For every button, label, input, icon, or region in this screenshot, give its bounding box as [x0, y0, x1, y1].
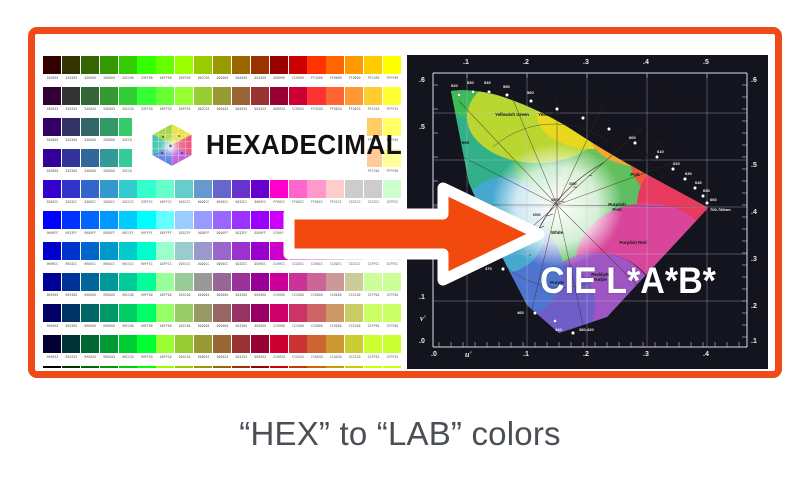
- color-swatch-hex-label: 3333CC: [62, 198, 81, 206]
- color-swatch-hex-label: 99CC00: [194, 74, 213, 82]
- color-swatch: [345, 56, 363, 74]
- color-swatch-item: 00CC66: [119, 304, 138, 334]
- color-swatch-item: 9999FF: [194, 211, 213, 241]
- swatch-row: 00000000330000660000990000CC0000FF0099FF…: [43, 366, 403, 368]
- color-swatch: [43, 149, 61, 167]
- color-swatch: [156, 273, 174, 291]
- color-swatch: [270, 304, 288, 322]
- color-swatch-item: 006633: [81, 335, 100, 365]
- color-swatch-item: 3399CC: [100, 180, 119, 210]
- color-swatch: [81, 242, 99, 260]
- color-swatch-hex-label: CC6699: [307, 291, 326, 299]
- color-swatch: [364, 56, 382, 74]
- color-swatch: [62, 211, 80, 229]
- color-swatch-hex-label: 0033FF: [62, 229, 81, 237]
- color-swatch-hex-label: 00FFCC: [137, 260, 156, 268]
- color-swatch: [100, 366, 118, 368]
- color-swatch-item: 333333: [62, 87, 81, 117]
- color-swatch: [194, 87, 212, 105]
- cie-ytick-left-5: .5: [419, 124, 425, 131]
- color-swatch: [251, 180, 269, 198]
- color-swatch-item: 999966: [194, 304, 213, 334]
- color-swatch-item: 00FF33: [137, 335, 156, 365]
- color-swatch-hex-label: 00CC99: [119, 291, 138, 299]
- cie-xtick-4: .4: [703, 351, 709, 358]
- color-swatch: [62, 273, 80, 291]
- cie-wavelength-640: 640: [695, 180, 702, 185]
- color-swatch-item: 009900: [100, 366, 119, 368]
- color-swatch: [326, 335, 344, 353]
- color-swatch-hex-label: CC0066: [270, 322, 289, 330]
- content-frame: 33000033330033660033990033CC0033FF0066FF…: [28, 27, 782, 378]
- color-swatch-hex-label: 00FF33: [137, 353, 156, 361]
- color-swatch-hex-label: 99FFCC: [156, 260, 175, 268]
- color-swatch-item: 0099CC: [100, 242, 119, 272]
- color-swatch: [119, 335, 137, 353]
- color-swatch-hex-label: 6666CC: [213, 198, 232, 206]
- color-swatch: [156, 366, 174, 368]
- color-swatch: [270, 366, 288, 368]
- color-swatch-item: 009999: [100, 273, 119, 303]
- color-swatch-item: 66FF00: [156, 56, 175, 86]
- color-swatch-hex-label: 009933: [100, 353, 119, 361]
- color-swatch: [289, 56, 307, 74]
- color-swatch: [100, 211, 118, 229]
- color-swatch: [137, 242, 155, 260]
- color-swatch: [156, 304, 174, 322]
- color-swatch: [100, 335, 118, 353]
- color-swatch-hex-label: 9933CC: [232, 260, 251, 268]
- color-swatch-item: 3300CC: [43, 180, 62, 210]
- color-swatch-hex-label: 339900: [100, 74, 119, 82]
- color-swatch-item: 330066: [43, 118, 62, 148]
- color-swatch-hex-label: CC9933: [326, 353, 345, 361]
- color-swatch: [213, 87, 231, 105]
- cie-xtick-top-4: .4: [643, 59, 649, 66]
- color-swatch-item: CCCC66: [345, 304, 364, 334]
- color-swatch-item: CC6666: [307, 304, 326, 334]
- color-swatch-item: 66CCCC: [175, 180, 194, 210]
- color-swatch-item: 99CC00: [194, 56, 213, 86]
- color-swatch: [81, 304, 99, 322]
- color-swatch-item: 9999CC: [194, 242, 213, 272]
- color-swatch-hex-label: FFFF00: [383, 74, 402, 82]
- color-swatch-item: 330033: [43, 87, 62, 117]
- color-swatch-item: 339933: [100, 87, 119, 117]
- color-swatch: [270, 335, 288, 353]
- color-swatch: [81, 335, 99, 353]
- color-swatch-hex-label: 006633: [81, 353, 100, 361]
- color-swatch-item: 996600: [232, 56, 251, 86]
- color-swatch-item: 339966: [100, 118, 119, 148]
- cie-ytick-right-5: .5: [751, 162, 757, 169]
- color-swatch-hex-label: 00CCCC: [119, 260, 138, 268]
- color-swatch-hex-label: 330099: [43, 167, 62, 175]
- color-swatch: [345, 366, 363, 368]
- color-swatch-item: 993333: [232, 335, 251, 365]
- color-swatch: [232, 211, 250, 229]
- cie-wavelength-590: 590: [653, 117, 660, 122]
- color-swatch-hex-label: 0099CC: [100, 260, 119, 268]
- color-swatch-item: 66FFCC: [156, 180, 175, 210]
- color-swatch: [137, 211, 155, 229]
- color-swatch-item: 9900FF: [251, 211, 270, 241]
- color-swatch-hex-label: CC6666: [307, 322, 326, 330]
- color-swatch: [62, 335, 80, 353]
- color-swatch-hex-label: 990033: [251, 353, 270, 361]
- color-swatch-hex-label: 99FF66: [156, 322, 175, 330]
- color-swatch-item: FFFF00: [383, 56, 402, 86]
- color-swatch-item: 00CCFF: [119, 211, 138, 241]
- cie-wavelength-540: 540: [484, 80, 491, 85]
- color-swatch: [326, 56, 344, 74]
- color-swatch-item: 006699: [81, 273, 100, 303]
- color-swatch-hex-label: 99CCCC: [175, 260, 194, 268]
- color-swatch: [326, 87, 344, 105]
- hexagon-color-wheel-icon: [149, 122, 195, 168]
- color-swatch: [364, 87, 382, 105]
- color-swatch-item: 0066FF: [81, 211, 100, 241]
- color-swatch-hex-label: 66FFFF: [156, 229, 175, 237]
- cie-ytick-right-4: .4: [751, 209, 757, 216]
- color-swatch-item: 333366: [62, 118, 81, 148]
- color-swatch: [43, 180, 61, 198]
- color-swatch: [62, 304, 80, 322]
- cie-wavelength-530: 530: [467, 80, 474, 85]
- color-swatch-item: 99FF33: [156, 335, 175, 365]
- color-swatch-hex-label: 33FFCC: [137, 198, 156, 206]
- color-swatch-hex-label: CC6633: [307, 353, 326, 361]
- color-swatch: [194, 366, 212, 368]
- color-swatch-hex-label: 6633CC: [232, 198, 251, 206]
- color-swatch-hex-label: 996699: [213, 291, 232, 299]
- color-swatch: [213, 366, 231, 368]
- color-swatch: [289, 366, 307, 368]
- color-swatch: [345, 87, 363, 105]
- color-swatch-item: 99CCCC: [175, 242, 194, 272]
- color-swatch-item: 999999: [194, 273, 213, 303]
- cie-xtick-top-1: .1: [463, 59, 469, 66]
- color-swatch: [100, 304, 118, 322]
- color-swatch-item: 99CC99: [175, 273, 194, 303]
- color-swatch-hex-label: 000099: [43, 291, 62, 299]
- color-swatch-hex-label: 993300: [251, 74, 270, 82]
- color-swatch: [43, 273, 61, 291]
- color-swatch-hex-label: 993399: [232, 291, 251, 299]
- color-swatch-item: 33FF00: [137, 56, 156, 86]
- color-swatch-item: 00CC00: [119, 366, 138, 368]
- color-swatch: [213, 211, 231, 229]
- color-swatch: [194, 56, 212, 74]
- color-swatch: [62, 149, 80, 167]
- color-swatch: [175, 335, 193, 353]
- color-swatch: [251, 56, 269, 74]
- color-swatch-item: 009933: [100, 335, 119, 365]
- color-swatch: [251, 366, 269, 368]
- color-swatch-item: 0000CC: [43, 242, 62, 272]
- cie-wavelength-380-420: 380-420: [579, 327, 594, 332]
- color-swatch-hex-label: 9999CC: [194, 260, 213, 268]
- color-swatch: [383, 87, 401, 105]
- color-swatch: [383, 304, 401, 322]
- color-swatch: [383, 366, 401, 368]
- color-swatch-item: FF6600: [326, 56, 345, 86]
- color-swatch-hex-label: 336633: [81, 105, 100, 113]
- color-swatch: [175, 211, 193, 229]
- cie-ytick-left-6: .6: [419, 77, 425, 84]
- color-swatch-item: 99FF00: [175, 56, 194, 86]
- color-swatch: [43, 242, 61, 260]
- color-swatch-hex-label: 330033: [43, 105, 62, 113]
- cie-wavelength-610: 610: [657, 149, 664, 154]
- color-swatch-item: CC3333: [289, 335, 308, 365]
- color-swatch-item: 330099: [43, 149, 62, 179]
- color-swatch-hex-label: 9966CC: [213, 260, 232, 268]
- color-swatch: [251, 87, 269, 105]
- cie-xtick-top-3: .3: [583, 59, 589, 66]
- color-swatch: [81, 87, 99, 105]
- color-swatch-item: CCFF00: [383, 366, 402, 368]
- color-swatch: [232, 335, 250, 353]
- color-swatch-item: 3366CC: [81, 180, 100, 210]
- color-swatch-hex-label: 0000FF: [43, 229, 62, 237]
- color-swatch-hex-label: 00FFFF: [137, 229, 156, 237]
- color-swatch-hex-label: 996600: [232, 74, 251, 82]
- color-swatch-hex-label: 9966FF: [213, 229, 232, 237]
- color-swatch-hex-label: 99FF99: [156, 291, 175, 299]
- color-swatch-item: 993366: [232, 304, 251, 334]
- cie-wavelength-460: 460: [517, 310, 524, 315]
- cie-wavelength-560: 560: [527, 90, 534, 95]
- color-swatch-hex-label: CC3399: [289, 291, 308, 299]
- color-swatch: [137, 273, 155, 291]
- color-swatch-item: 006666: [81, 304, 100, 334]
- color-swatch-hex-label: 0000CC: [43, 260, 62, 268]
- color-swatch: [213, 273, 231, 291]
- color-swatch-hex-label: 000033: [43, 353, 62, 361]
- color-swatch-item: CC6633: [307, 335, 326, 365]
- color-swatch-hex-label: FFFF99: [383, 167, 402, 175]
- color-swatch: [289, 87, 307, 105]
- color-swatch-item: 0033CC: [62, 242, 81, 272]
- color-swatch-hex-label: 00FF99: [137, 291, 156, 299]
- color-swatch-hex-label: 333366: [62, 136, 81, 144]
- color-swatch-item: 996600: [213, 366, 232, 368]
- cie-lab-title: CIE L*A*B*: [540, 260, 716, 302]
- color-swatch-item: 00FFFF: [137, 211, 156, 241]
- color-swatch: [43, 56, 61, 74]
- color-swatch: [156, 211, 174, 229]
- color-swatch-item: 99FF99: [156, 273, 175, 303]
- color-swatch-item: CC0033: [270, 335, 289, 365]
- color-swatch: [81, 118, 99, 136]
- color-swatch-item: CC0066: [270, 304, 289, 334]
- color-swatch-item: CC9900: [326, 366, 345, 368]
- hexadecimal-label-text: HEXADECIMAL: [206, 129, 402, 161]
- color-swatch: [156, 87, 174, 105]
- color-swatch-hex-label: 0066FF: [81, 229, 100, 237]
- color-swatch-item: 9900CC: [251, 242, 270, 272]
- color-swatch-hex-label: CCCC66: [345, 322, 364, 330]
- color-swatch-hex-label: 009999: [100, 291, 119, 299]
- cie-xtick-0: .0: [431, 351, 437, 358]
- cie-wavelength-620: 620: [673, 161, 680, 166]
- color-swatch: [81, 366, 99, 368]
- color-swatch-item: 006600: [81, 366, 100, 368]
- color-swatch: [232, 242, 250, 260]
- color-swatch-item: FFCC00: [364, 56, 383, 86]
- color-swatch: [81, 180, 99, 198]
- color-swatch-hex-label: 3399CC: [100, 198, 119, 206]
- color-swatch: [119, 304, 137, 322]
- color-swatch-hex-label: 66CCCC: [175, 198, 194, 206]
- color-swatch: [119, 180, 137, 198]
- color-swatch: [119, 87, 137, 105]
- cie-cct-4000: 4000: [551, 198, 559, 202]
- color-swatch: [43, 211, 61, 229]
- color-swatch-hex-label: 999900: [213, 74, 232, 82]
- color-swatch: [213, 335, 231, 353]
- color-swatch: [307, 335, 325, 353]
- color-swatch: [156, 242, 174, 260]
- color-swatch-item: 9966CC: [213, 242, 232, 272]
- color-swatch-item: 00FF66: [137, 304, 156, 334]
- color-swatch-item: FFFF33: [383, 87, 402, 117]
- color-swatch-item: CC9966: [326, 304, 345, 334]
- cie-cct-3000: 3000: [569, 182, 577, 186]
- color-swatch-hex-label: 3300CC: [43, 198, 62, 206]
- color-swatch-hex-label: CCFF66: [364, 322, 383, 330]
- color-swatch-hex-label: 999933: [194, 353, 213, 361]
- color-swatch-item: 33CC00: [119, 56, 138, 86]
- swatch-row: 00003300333300663300993300CC3300FF3399FF…: [43, 335, 403, 365]
- color-swatch-item: CC9933: [326, 335, 345, 365]
- color-swatch-hex-label: 9900FF: [251, 229, 270, 237]
- cie-wavelength-520: 520: [451, 83, 458, 88]
- color-swatch-hex-label: 003366: [62, 322, 81, 330]
- color-swatch-hex-label: 9999FF: [194, 229, 213, 237]
- color-swatch-hex-label: 996633: [213, 353, 232, 361]
- color-swatch-hex-label: FFCC33: [364, 105, 383, 113]
- color-swatch: [156, 180, 174, 198]
- cie-wavelength-580: 580: [603, 117, 610, 122]
- color-swatch-hex-label: CCFF99: [383, 291, 402, 299]
- color-swatch-item: 00CC99: [119, 273, 138, 303]
- color-swatch-item: 66FFFF: [156, 211, 175, 241]
- color-swatch: [137, 180, 155, 198]
- color-swatch-hex-label: CC3366: [289, 322, 308, 330]
- color-swatch-hex-label: 99FF00: [175, 74, 194, 82]
- color-swatch-item: 339900: [100, 56, 119, 86]
- color-swatch-item: 99CC66: [175, 304, 194, 334]
- color-swatch-item: 336633: [81, 87, 100, 117]
- color-swatch-hex-label: 66FF00: [156, 74, 175, 82]
- page-caption: “HEX” to “LAB” colors: [0, 415, 800, 453]
- color-swatch: [194, 335, 212, 353]
- color-swatch-item: 336666: [81, 118, 100, 148]
- color-swatch: [156, 56, 174, 74]
- color-swatch-hex-label: FF9900: [345, 74, 364, 82]
- color-swatch: [232, 180, 250, 198]
- color-swatch-item: 993300: [251, 56, 270, 86]
- color-swatch-hex-label: 009966: [100, 322, 119, 330]
- color-swatch-item: 99FF66: [156, 304, 175, 334]
- color-swatch-hex-label: 339999: [100, 167, 119, 175]
- cie-wavelength-600: 600: [629, 135, 636, 140]
- color-swatch-item: 0066CC: [81, 242, 100, 272]
- color-swatch: [345, 304, 363, 322]
- color-swatch-item: 9933CC: [232, 242, 251, 272]
- color-swatch-hex-label: CC0000: [289, 74, 308, 82]
- color-swatch-hex-label: 00FF66: [137, 322, 156, 330]
- color-swatch-item: 993399: [232, 273, 251, 303]
- color-swatch-hex-label: 333399: [62, 167, 81, 175]
- color-swatch-item: 330000: [43, 56, 62, 86]
- color-swatch-hex-label: 3366CC: [81, 198, 100, 206]
- cie-ytick-right-3: .3: [751, 256, 757, 263]
- color-swatch: [175, 87, 193, 105]
- color-swatch-hex-label: 33FF00: [137, 74, 156, 82]
- color-swatch-item: 00FF99: [137, 273, 156, 303]
- color-swatch: [43, 118, 61, 136]
- cie-xtick-1: .1: [523, 351, 529, 358]
- color-swatch-item: CC0000: [289, 56, 308, 86]
- color-swatch: [383, 56, 401, 74]
- color-swatch-hex-label: FFCC00: [364, 74, 383, 82]
- color-swatch: [137, 335, 155, 353]
- color-swatch-hex-label: 333333: [62, 105, 81, 113]
- color-swatch-item: 6699CC: [194, 180, 213, 210]
- color-swatch-hex-label: CCFF66: [383, 322, 402, 330]
- color-swatch-item: 6666CC: [213, 180, 232, 210]
- color-swatch-hex-label: 339933: [100, 105, 119, 113]
- color-swatch: [43, 335, 61, 353]
- color-swatch-item: 996633: [213, 335, 232, 365]
- color-swatch-item: 000066: [43, 304, 62, 334]
- color-swatch: [307, 304, 325, 322]
- color-swatch-hex-label: 333300: [62, 74, 81, 82]
- color-swatch-hex-label: 330066: [43, 136, 62, 144]
- color-swatch: [232, 273, 250, 291]
- color-swatch-hex-label: 330000: [43, 74, 62, 82]
- cie-xtick-top-2: .2: [523, 59, 529, 66]
- color-swatch-item: CCFF00: [364, 366, 383, 368]
- color-swatch: [100, 87, 118, 105]
- color-swatch-hex-label: 9933FF: [232, 229, 251, 237]
- color-swatch-hex-label: 990099: [251, 291, 270, 299]
- cie-xtick-2: .2: [583, 351, 589, 358]
- color-swatch-hex-label: 336699: [81, 167, 100, 175]
- color-swatch-item: CC3300: [289, 366, 308, 368]
- color-swatch: [62, 87, 80, 105]
- cie-y-axis-label: v': [420, 314, 426, 323]
- swatch-row: 33000033330033660033990033CC0033FF0066FF…: [43, 56, 403, 86]
- color-swatch-hex-label: 336666: [81, 136, 100, 144]
- color-swatch: [270, 87, 288, 105]
- color-swatch: [100, 242, 118, 260]
- color-swatch-item: 99FFCC: [156, 242, 175, 272]
- color-swatch-hex-label: 003333: [62, 353, 81, 361]
- color-swatch-hex-label: 996666: [213, 322, 232, 330]
- color-swatch-item: 999933: [194, 335, 213, 365]
- color-swatch-hex-label: FF3300: [307, 74, 326, 82]
- color-swatch: [194, 304, 212, 322]
- color-swatch-hex-label: 990000: [270, 74, 289, 82]
- cie-wavelength-650: 650: [703, 188, 710, 193]
- color-swatch: [307, 366, 325, 368]
- cie-ytick-right-6: .6: [751, 77, 757, 84]
- color-swatch: [364, 304, 382, 322]
